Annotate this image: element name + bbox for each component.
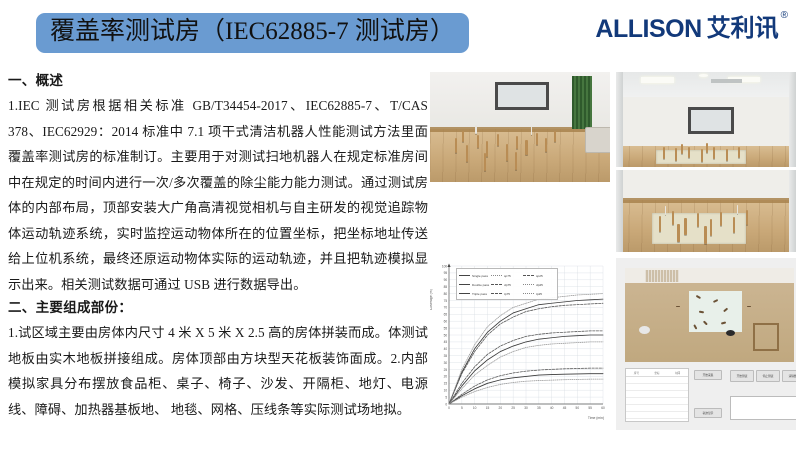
legend-swatch-icon bbox=[491, 275, 502, 276]
table-col-index: 序号 bbox=[626, 371, 647, 375]
svg-text:20: 20 bbox=[444, 375, 448, 379]
legend-label: Single pass bbox=[472, 274, 488, 278]
svg-text:80: 80 bbox=[444, 292, 448, 296]
svg-text:40: 40 bbox=[444, 347, 448, 351]
section-1-heading: 一、概述 bbox=[8, 70, 428, 92]
table-col-time: 时间 bbox=[667, 371, 688, 375]
coverage-chart-panel: 0510152025303540455055606570758085909510… bbox=[430, 258, 610, 430]
legend-swatch-icon bbox=[459, 284, 470, 285]
chart-legend-item: sp75 bbox=[491, 274, 523, 278]
page-title-box: 覆盖率测试房（IEC62885-7 测试房） bbox=[36, 13, 469, 53]
svg-text:35: 35 bbox=[444, 354, 448, 358]
svg-text:45: 45 bbox=[563, 406, 567, 410]
svg-text:100: 100 bbox=[442, 264, 448, 268]
coverage-chart: 0510152025303540455055606570758085909510… bbox=[430, 258, 610, 430]
svg-text:0: 0 bbox=[448, 406, 450, 410]
photo-test-room-carpet bbox=[616, 170, 796, 252]
logo-text-cn: 艾利讯 bbox=[707, 16, 779, 42]
table-row[interactable] bbox=[626, 412, 688, 419]
legend-label: sp25 bbox=[536, 274, 543, 278]
svg-text:55: 55 bbox=[444, 326, 448, 330]
photo-test-room-wide bbox=[616, 72, 796, 167]
svg-text:35: 35 bbox=[537, 406, 541, 410]
svg-text:0: 0 bbox=[445, 402, 447, 406]
table-header-row: 序号 坐标 时间 bbox=[626, 369, 688, 377]
chart-legend-item: sp25 bbox=[523, 274, 555, 278]
chart-legend-row: Double passdp75dp25 bbox=[459, 280, 555, 289]
svg-text:30: 30 bbox=[444, 361, 448, 365]
svg-text:10: 10 bbox=[473, 406, 477, 410]
table-row[interactable] bbox=[626, 405, 688, 412]
legend-swatch-icon bbox=[459, 275, 470, 276]
svg-text:50: 50 bbox=[576, 406, 580, 410]
legend-label: sp75 bbox=[504, 274, 511, 278]
chart-x-axis-label: Time (min) bbox=[588, 416, 604, 420]
section-1-body: 1.IEC 测试房根据相关标准 GB/T34454-2017、IEC62885-… bbox=[8, 93, 428, 297]
table-row[interactable] bbox=[626, 384, 688, 391]
stop-test-button[interactable]: 停止测试 bbox=[756, 370, 780, 382]
chart-legend-item: Double pass bbox=[459, 283, 491, 287]
legend-swatch-icon bbox=[491, 284, 502, 285]
logo-text-en: ALLISON bbox=[595, 16, 701, 42]
svg-text:90: 90 bbox=[444, 278, 448, 282]
svg-text:55: 55 bbox=[588, 406, 592, 410]
legend-label: dp75 bbox=[504, 283, 511, 287]
track-display-button[interactable]: 轨迹显示 bbox=[694, 408, 722, 418]
svg-text:5: 5 bbox=[461, 406, 463, 410]
chart-legend-item: dp25 bbox=[523, 283, 555, 287]
table-row[interactable] bbox=[626, 398, 688, 405]
legend-swatch-icon bbox=[459, 293, 470, 294]
chart-legend-item: Single pass bbox=[459, 274, 491, 278]
slide-root: 覆盖率测试房（IEC62885-7 测试房） ALLISON 艾利讯 ® 一、概… bbox=[0, 0, 800, 450]
page-title: 覆盖率测试房（IEC62885-7 测试房） bbox=[50, 17, 455, 47]
software-video-feed bbox=[625, 268, 794, 362]
section-2-heading: 二、主要组成部份： bbox=[8, 297, 428, 319]
svg-text:60: 60 bbox=[444, 320, 448, 324]
photo-test-room-posts bbox=[430, 72, 610, 182]
svg-text:50: 50 bbox=[444, 333, 448, 337]
software-data-table: 序号 坐标 时间 bbox=[625, 368, 689, 422]
chart-legend-item: dp75 bbox=[491, 283, 523, 287]
svg-text:40: 40 bbox=[550, 406, 554, 410]
legend-label: Double pass bbox=[472, 283, 489, 287]
svg-text:65: 65 bbox=[444, 313, 448, 317]
chart-y-axis-label: Coverage (%) bbox=[430, 289, 433, 310]
svg-text:25: 25 bbox=[511, 406, 515, 410]
log-output-field[interactable] bbox=[730, 396, 796, 420]
svg-text:5: 5 bbox=[445, 395, 447, 399]
table-row[interactable] bbox=[626, 391, 688, 398]
svg-text:95: 95 bbox=[444, 271, 448, 275]
svg-text:10: 10 bbox=[444, 389, 448, 393]
svg-text:75: 75 bbox=[444, 299, 448, 303]
svg-text:45: 45 bbox=[444, 340, 448, 344]
registered-trademark-icon: ® bbox=[781, 10, 788, 21]
start-test-button[interactable]: 开始测试 bbox=[730, 370, 754, 382]
svg-text:70: 70 bbox=[444, 306, 448, 310]
section-2-body: 1.试区域主要由房体内尺寸 4 米 X 5 米 X 2.5 高的房体拼装而成。体… bbox=[8, 320, 428, 422]
svg-text:20: 20 bbox=[499, 406, 503, 410]
svg-text:25: 25 bbox=[444, 368, 448, 372]
svg-text:15: 15 bbox=[486, 406, 490, 410]
table-row[interactable] bbox=[626, 377, 688, 384]
chart-legend-row: Triple passtp75tp25 bbox=[459, 289, 555, 298]
svg-text:15: 15 bbox=[444, 382, 448, 386]
chart-legend-item: tp25 bbox=[523, 292, 555, 296]
legend-swatch-icon bbox=[523, 293, 534, 294]
legend-swatch-icon bbox=[491, 293, 502, 294]
chart-legend-item: tp75 bbox=[491, 292, 523, 296]
svg-text:85: 85 bbox=[444, 285, 448, 289]
brand-logo: ALLISON 艾利讯 ® bbox=[595, 16, 788, 42]
legend-label: dp25 bbox=[536, 283, 543, 287]
legend-label: Triple pass bbox=[472, 292, 487, 296]
svg-text:30: 30 bbox=[524, 406, 528, 410]
svg-text:60: 60 bbox=[601, 406, 605, 410]
chart-legend-item: Triple pass bbox=[459, 292, 491, 296]
legend-swatch-icon bbox=[523, 275, 534, 276]
chart-legend: Single passsp75sp25Double passdp75dp25Tr… bbox=[456, 268, 558, 300]
clear-data-button[interactable]: 清除数据 bbox=[782, 370, 796, 382]
slide-header: 覆盖率测试房（IEC62885-7 测试房） ALLISON 艾利讯 ® bbox=[0, 0, 800, 68]
photo-tracking-software: 序号 坐标 时间 开始采集 轨迹显示 开始测试 停止测试 清除数据 导出 bbox=[616, 258, 796, 430]
body-text-column: 一、概述 1.IEC 测试房根据相关标准 GB/T34454-2017、IEC6… bbox=[8, 70, 428, 430]
legend-swatch-icon bbox=[523, 284, 534, 285]
legend-label: tp75 bbox=[504, 292, 510, 296]
table-col-coord: 坐标 bbox=[647, 371, 668, 375]
start-capture-button[interactable]: 开始采集 bbox=[694, 370, 722, 380]
legend-label: tp25 bbox=[536, 292, 542, 296]
chart-legend-row: Single passsp75sp25 bbox=[459, 271, 555, 280]
